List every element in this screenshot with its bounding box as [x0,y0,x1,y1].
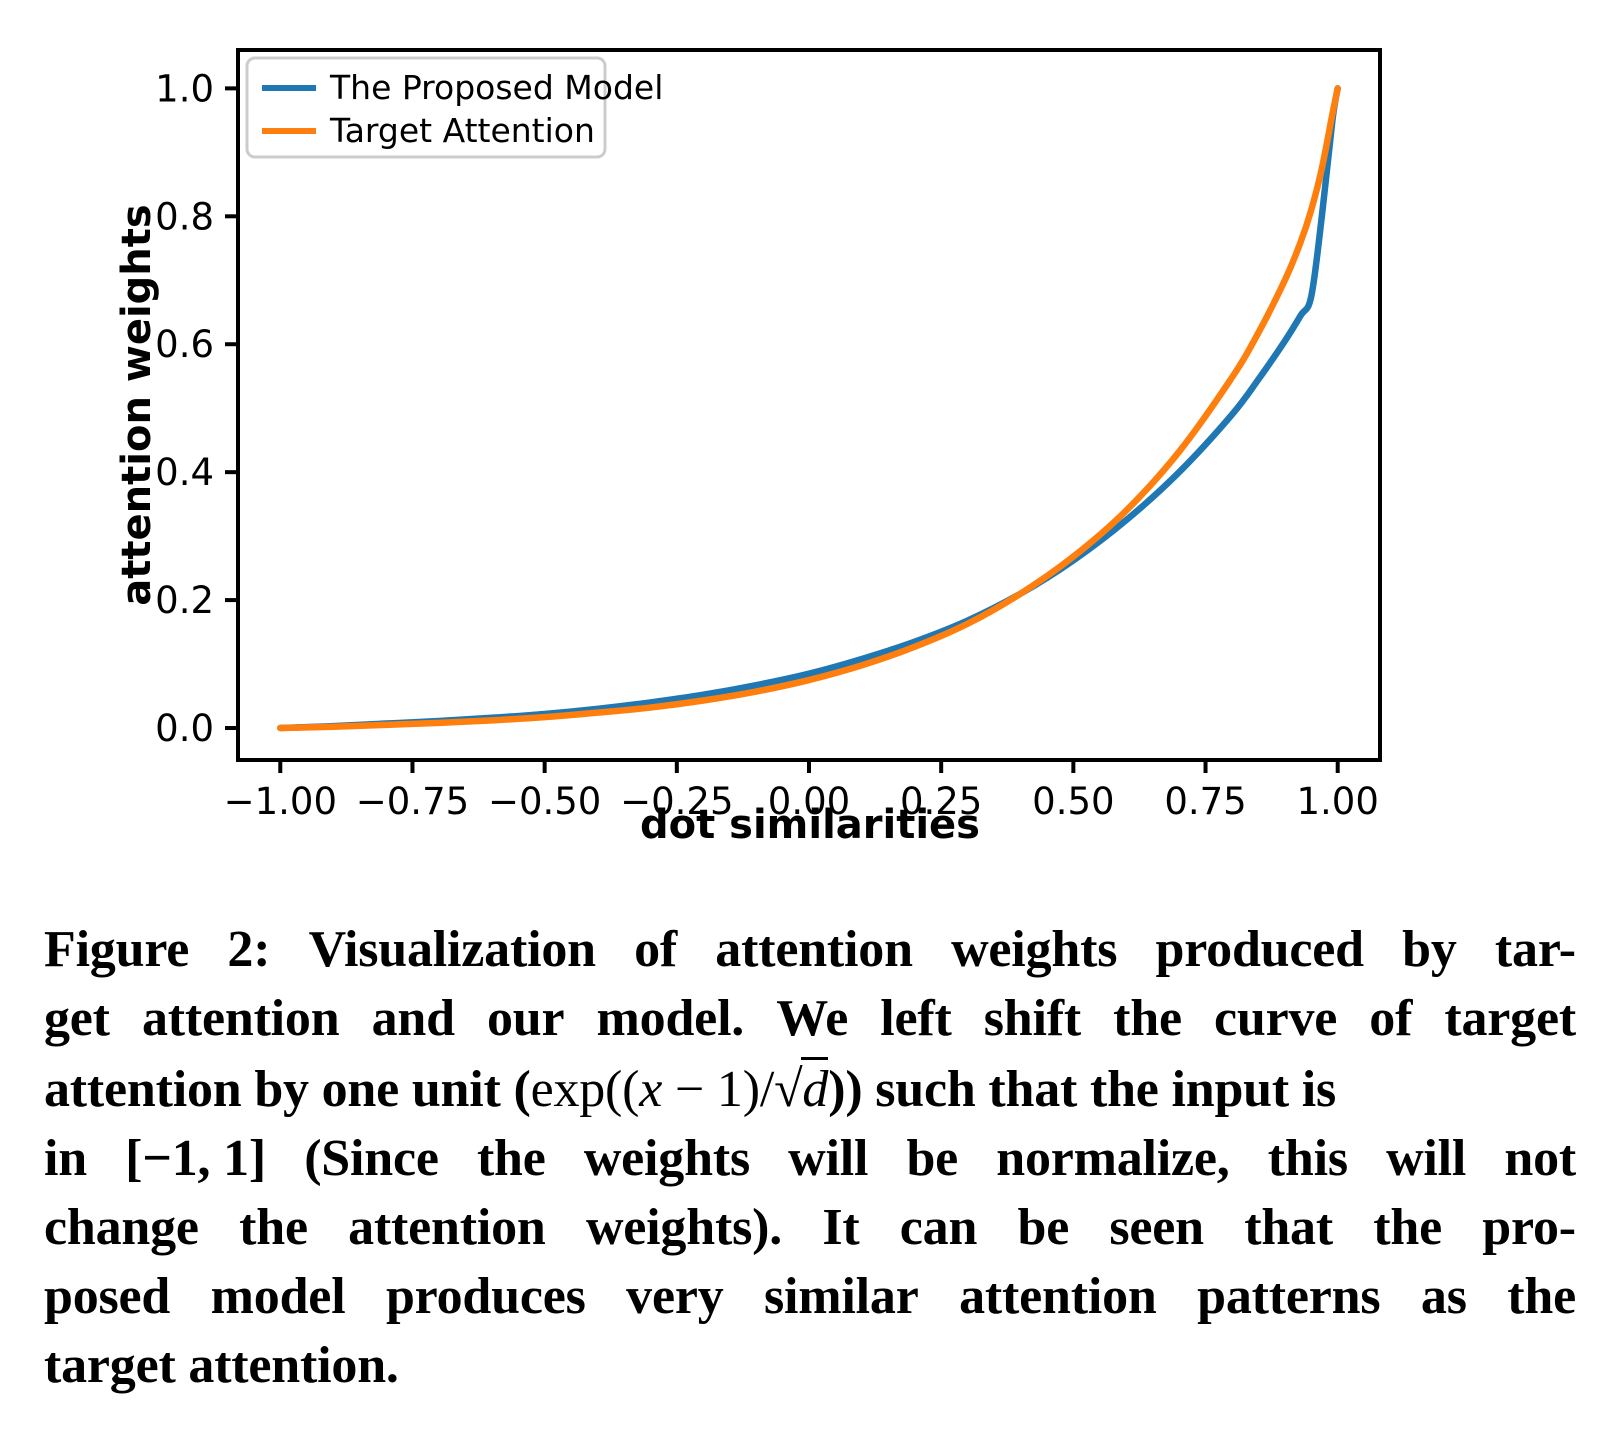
caption-word: of [1369,984,1412,1053]
caption-line: in[−1, 1](Sincetheweightswillbenormalize… [44,1124,1576,1193]
caption-word: We [776,984,848,1053]
y-tick-label: 0.8 [155,195,214,238]
caption-word: in [44,1124,87,1193]
figure-page: 0.00.20.40.60.81.0 −1.00−0.75−0.50−0.250… [0,0,1620,1452]
caption-word: weights [951,915,1117,984]
caption-word: attention [959,1262,1157,1331]
caption-word: that [1244,1193,1333,1262]
caption-line: changetheattentionweights).Itcanbeseenth… [44,1193,1576,1262]
caption-word: by [1402,915,1457,984]
y-tick-label: 0.4 [155,451,214,494]
caption-word: similar [764,1262,919,1331]
caption-word: be [906,1124,958,1193]
caption-word: left [880,984,951,1053]
caption-word: weights [584,1124,750,1193]
caption-word: the [477,1124,546,1193]
caption-word: pro- [1482,1193,1576,1262]
caption-word: get [44,984,110,1053]
caption-word: seen [1109,1193,1204,1262]
caption-word: (Since [304,1124,439,1193]
y-tick-label: 0.0 [155,707,214,750]
x-tick-label: 0.75 [1164,780,1246,823]
x-tick-label: −0.75 [356,780,469,823]
legend-label-target-attention: Target Attention [329,111,595,150]
caption-word: the [1507,1262,1576,1331]
caption-word: shift [984,984,1081,1053]
caption-fragment: x [639,1061,662,1118]
radical-glyph: √ [774,1061,802,1118]
caption-word: curve [1214,984,1337,1053]
radicand: d [802,1061,828,1118]
caption-word: tar- [1495,915,1576,984]
caption-word: will [788,1124,868,1193]
caption-fragment: )) such that the input is [828,1061,1336,1118]
x-tick-label: −0.50 [488,780,601,823]
caption-fragment: attention by one unit ( [44,1061,531,1118]
caption-word: can [900,1193,977,1262]
figure-caption: Figure2:Visualizationofattentionweightsp… [44,915,1576,1400]
caption-word: not [1504,1124,1576,1193]
x-tick-label: −1.00 [224,780,337,823]
caption-word: be [1017,1193,1069,1262]
x-axis-label: dot similarities [640,802,980,848]
sqrt-symbol: √d [774,1053,828,1124]
caption-word: attention [715,915,913,984]
x-tick-label: 1.00 [1297,780,1379,823]
caption-line: Figure2:Visualizationofattentionweightsp… [44,915,1576,984]
caption-word: very [626,1262,723,1331]
y-tick-label: 1.0 [155,67,214,110]
y-tick-label: 0.2 [155,579,214,622]
caption-line: posedmodelproducesverysimilarattentionpa… [44,1262,1576,1331]
caption-word: target [1444,984,1576,1053]
attention-weights-figure: 0.00.20.40.60.81.0 −1.00−0.75−0.50−0.250… [0,0,1620,880]
caption-word: our [487,984,564,1053]
caption-word: as [1421,1262,1467,1331]
caption-word: [−1, 1] [125,1124,266,1193]
caption-word: of [634,915,677,984]
caption-word: the [1373,1193,1442,1262]
caption-word: attention [142,984,340,1053]
caption-word: produced [1155,915,1363,984]
caption-word: model. [597,984,745,1053]
caption-word: the [239,1193,308,1262]
caption-word: attention [348,1193,546,1262]
caption-word: It [822,1193,859,1262]
caption-word: Visualization [309,915,596,984]
caption-word: Figure [44,915,189,984]
caption-word: model [211,1262,346,1331]
caption-word: this [1268,1124,1348,1193]
caption-word: posed [44,1262,170,1331]
y-tick-label: 0.6 [155,323,214,366]
chart-legend: The Proposed Model Target Attention [247,58,663,157]
radical-overbar [801,1057,828,1060]
caption-word: and [372,984,455,1053]
caption-line: attention by one unit (exp((x − 1)/√d)) … [44,1053,1576,1124]
attention-weights-chart: 0.00.20.40.60.81.0 −1.00−0.75−0.50−0.250… [0,0,1620,880]
caption-word: patterns [1197,1262,1380,1331]
caption-word: the [1113,984,1182,1053]
caption-word: 2: [227,915,270,984]
y-axis-ticks: 0.00.20.40.60.81.0 [155,67,238,750]
legend-label-proposed-model: The Proposed Model [329,68,663,107]
caption-fragment: − 1)/ [662,1061,774,1118]
caption-word: change [44,1193,199,1262]
y-axis-label: attention weights [114,204,160,605]
caption-word: produces [386,1262,586,1331]
x-tick-label: 0.50 [1032,780,1114,823]
caption-fragment: exp(( [531,1061,640,1118]
caption-line: getattentionandourmodel.Weleftshiftthecu… [44,984,1576,1053]
caption-word: will [1386,1124,1466,1193]
caption-line-last: target attention. [44,1331,1576,1400]
caption-word: normalize, [996,1124,1229,1193]
caption-word: weights). [586,1193,782,1262]
